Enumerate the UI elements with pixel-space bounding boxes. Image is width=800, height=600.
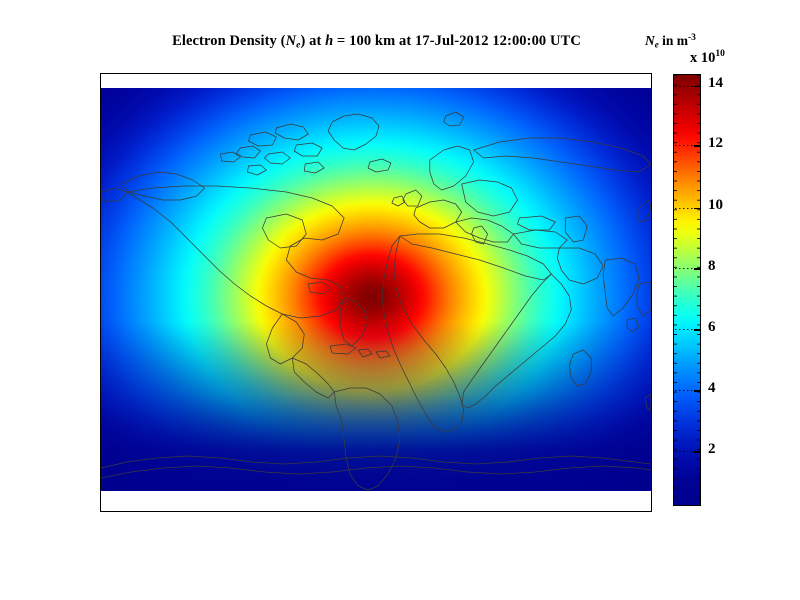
colorbar-tick-mark bbox=[694, 329, 700, 330]
colorbar[interactable]: 1412108642 bbox=[673, 74, 701, 506]
colorbar-tick-dotted-line bbox=[675, 208, 694, 209]
colorbar-tick-dotted-line bbox=[675, 451, 694, 452]
page-title: Electron Density (Ne) at h = 100 km at 1… bbox=[100, 33, 653, 51]
colorbar-tick-label: 8 bbox=[708, 259, 716, 274]
title-height-value: 100 km bbox=[349, 33, 395, 49]
colorbar-tick-label: 10 bbox=[708, 198, 723, 213]
title-at-second: at bbox=[395, 33, 415, 49]
colorbar-tick-label: 12 bbox=[708, 136, 723, 151]
colorbar-minor-ticks-left bbox=[674, 75, 677, 505]
title-datetime: 17-Jul-2012 12:00:00 UTC bbox=[415, 33, 581, 49]
colorbar-tick-dotted-line bbox=[675, 329, 694, 330]
colorbar-tick-dotted-line bbox=[675, 268, 694, 269]
coastline-svg bbox=[101, 88, 651, 491]
colorbar-units-symbol: N bbox=[645, 33, 655, 48]
colorbar-multiplier-label: x 1010 bbox=[690, 50, 725, 65]
colorbar-units-in: in m bbox=[659, 33, 688, 48]
colorbar-tick-label: 2 bbox=[708, 442, 716, 457]
colorbar-minor-ticks-right bbox=[697, 75, 700, 505]
colorbar-tick-label: 14 bbox=[708, 76, 723, 91]
colorbar-multiplier-exponent: 10 bbox=[715, 49, 725, 59]
colorbar-tick-mark bbox=[694, 390, 700, 391]
colorbar-tick-mark bbox=[694, 86, 700, 87]
colorbar-tick-dotted-line bbox=[675, 145, 694, 146]
title-symbol: N bbox=[286, 33, 297, 49]
colorbar-tick-mark bbox=[694, 208, 700, 209]
colorbar-units-label: Ne in m-3 bbox=[645, 34, 696, 50]
title-equals: = bbox=[333, 33, 349, 49]
colorbar-units-exponent: -3 bbox=[688, 33, 696, 43]
colorbar-tick-mark bbox=[694, 451, 700, 452]
colorbar-multiplier-prefix: x 10 bbox=[690, 50, 715, 66]
colorbar-tick-dotted-line bbox=[675, 390, 694, 391]
colorbar-tick-dotted-line bbox=[675, 86, 694, 87]
electron-density-heatmap bbox=[101, 88, 651, 491]
title-at-first: at bbox=[305, 33, 325, 49]
colorbar-tick-mark bbox=[694, 268, 700, 269]
coastline-overlay bbox=[101, 88, 651, 491]
colorbar-tick-mark bbox=[694, 145, 700, 146]
map-plot-area[interactable] bbox=[100, 73, 652, 512]
colorbar-tick-label: 6 bbox=[708, 320, 716, 335]
colorbar-tick-label: 4 bbox=[708, 381, 716, 396]
title-quantity: Electron Density bbox=[172, 33, 277, 49]
